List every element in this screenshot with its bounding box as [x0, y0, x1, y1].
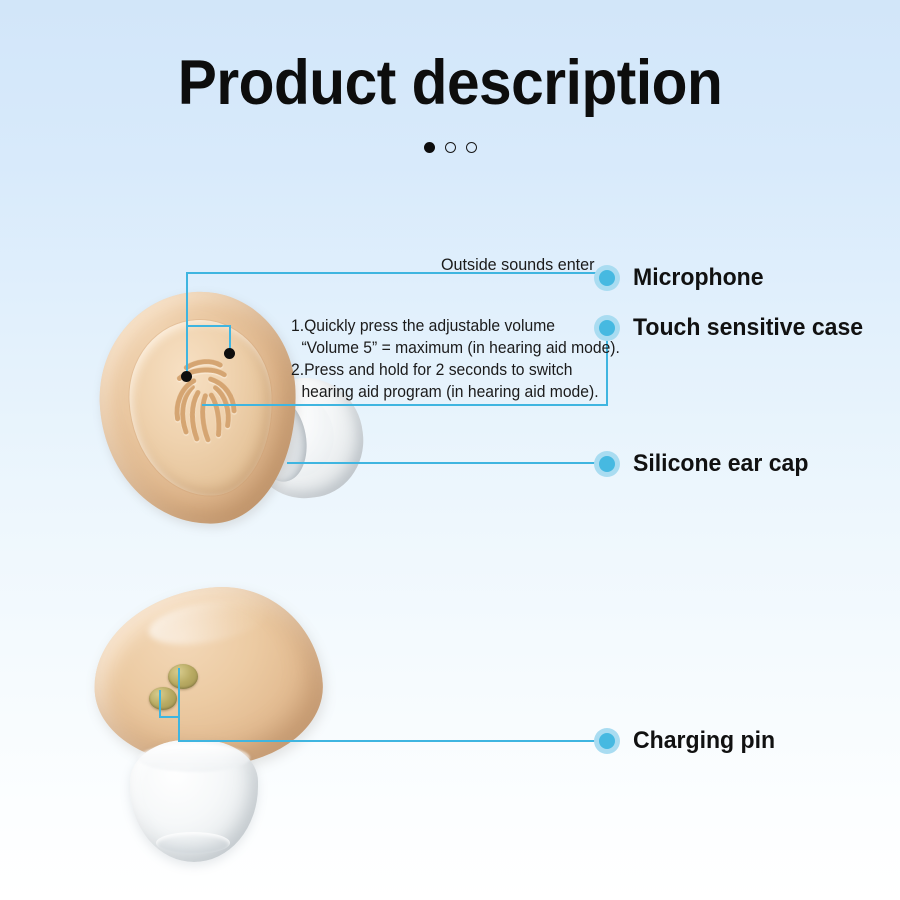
- silicone-leader-horizontal: [287, 462, 598, 464]
- callout-label-microphone: Microphone: [633, 264, 764, 292]
- microphone-leader-vertical: [186, 272, 188, 327]
- charging-leader-pin2-drop: [159, 690, 161, 718]
- microphone-fork-bar: [186, 325, 231, 327]
- instruction-step1-line2: “Volume 5” = maximum (in hearing aid mod…: [291, 338, 620, 360]
- marker-icon-microphone: [594, 265, 620, 291]
- callout-silicone-ear-cap[interactable]: Silicone ear cap: [594, 450, 816, 478]
- charging-leader-stem: [178, 716, 180, 742]
- pagination-dot-2[interactable]: [445, 142, 456, 153]
- microphone-port-right: [224, 348, 235, 359]
- charging-pin-2: [149, 687, 177, 710]
- page-title: Product description: [32, 52, 869, 115]
- earbud-side-view: [88, 578, 338, 878]
- charging-leader-horizontal: [178, 740, 598, 742]
- marker-icon-charging-pin: [594, 728, 620, 754]
- callout-charging-pin[interactable]: Charging pin: [594, 727, 781, 755]
- microphone-port-left: [181, 371, 192, 382]
- pagination-dot-3[interactable]: [466, 142, 477, 153]
- fingerprint-icon: [155, 352, 252, 453]
- outside-sounds-note: Outside sounds enter: [441, 255, 595, 275]
- charging-leader-merge-bar: [159, 716, 180, 718]
- pagination-dot-1[interactable]: [424, 142, 435, 153]
- callout-touch-sensitive-case[interactable]: Touch sensitive case: [594, 314, 873, 342]
- callout-label-silicone-ear-cap: Silicone ear cap: [633, 450, 808, 478]
- silicone-dome-band: [138, 744, 250, 772]
- marker-icon-touch-sensitive-case: [594, 315, 620, 341]
- infographic-canvas: Product description: [0, 0, 900, 900]
- charging-pin-1: [168, 664, 198, 689]
- instruction-step1-line1: 1.Quickly press the adjustable volume: [291, 317, 555, 335]
- marker-icon-silicone-ear-cap: [594, 451, 620, 477]
- callout-label-charging-pin: Charging pin: [633, 727, 775, 755]
- instruction-step2-line1: 2.Press and hold for 2 seconds to switch: [291, 361, 572, 379]
- charging-leader-pin1-drop: [178, 668, 180, 718]
- instruction-step2-line2: hearing aid program (in hearing aid mode…: [291, 382, 620, 404]
- microphone-fork-left: [186, 325, 188, 374]
- callout-microphone[interactable]: Microphone: [594, 264, 769, 292]
- pagination-dots[interactable]: [0, 142, 900, 153]
- touch-leader-horizontal: [202, 404, 608, 406]
- instructions-note: 1.Quickly press the adjustable volume “V…: [291, 316, 620, 404]
- callout-label-touch-sensitive-case: Touch sensitive case: [633, 314, 863, 342]
